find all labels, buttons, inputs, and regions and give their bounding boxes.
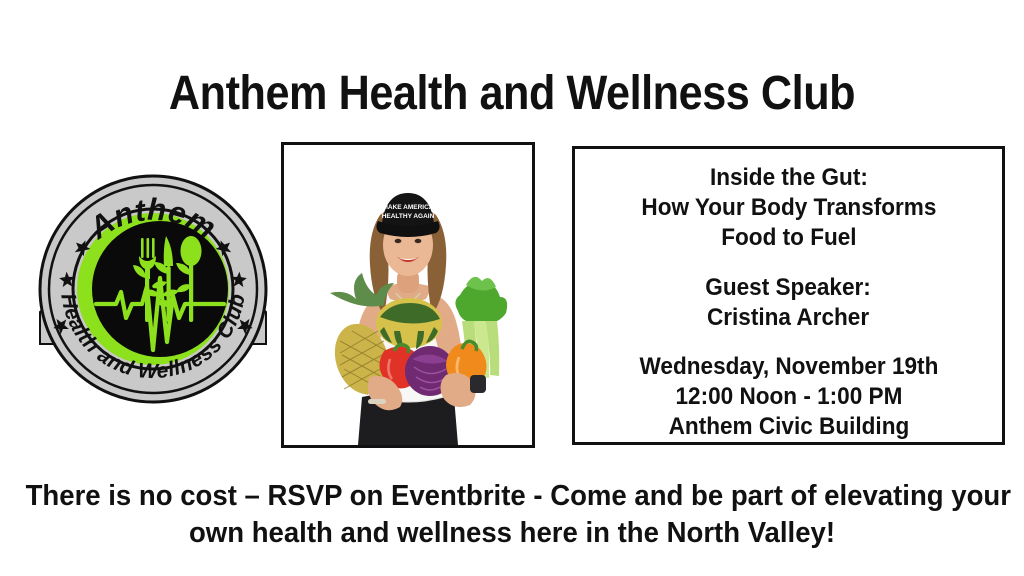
- flyer-canvas: Anthem Health and Wellness Club: [0, 0, 1024, 576]
- bracelet: [368, 399, 386, 404]
- club-logo-graphic: Anthem Health and Wellness Club: [38, 174, 268, 404]
- right-eye: [415, 239, 422, 243]
- event-date: Wednesday, November 19th: [639, 352, 938, 382]
- club-logo: Anthem Health and Wellness Club: [38, 174, 268, 404]
- page-title: Anthem Health and Wellness Club: [51, 66, 973, 122]
- speaker-label: Guest Speaker:: [706, 273, 872, 303]
- cap-text-line1: MAKE AMERICA: [382, 204, 433, 211]
- left-eye: [395, 239, 402, 243]
- speaker-photo-image: MAKE AMERICA HEALTHY AGAIN: [284, 145, 532, 445]
- footer-line-1: There is no cost – RSVP on Eventbrite - …: [26, 478, 999, 515]
- event-location: Anthem Civic Building: [639, 412, 938, 442]
- watch: [470, 375, 486, 393]
- speaker-name: Cristina Archer: [706, 303, 872, 333]
- talk-title: Inside the Gut: How Your Body Transforms…: [641, 163, 936, 253]
- talk-title-line-3: Food to Fuel: [641, 223, 936, 253]
- talk-title-line-2: How Your Body Transforms: [641, 193, 936, 223]
- cap-text-line2: HEALTHY AGAIN: [382, 213, 435, 220]
- event-time: 12:00 Noon - 1:00 PM: [639, 382, 938, 412]
- event-info-box: Inside the Gut: How Your Body Transforms…: [572, 146, 1005, 445]
- footer-note: There is no cost – RSVP on Eventbrite - …: [0, 478, 1024, 552]
- speaker-photo-card: MAKE AMERICA HEALTHY AGAIN: [281, 142, 535, 448]
- speaker-block: Guest Speaker: Cristina Archer: [706, 273, 872, 333]
- talk-title-line-1: Inside the Gut:: [641, 163, 936, 193]
- event-details-block: Wednesday, November 19th 12:00 Noon - 1:…: [639, 352, 938, 442]
- footer-line-2: own health and wellness here in the Nort…: [26, 515, 999, 552]
